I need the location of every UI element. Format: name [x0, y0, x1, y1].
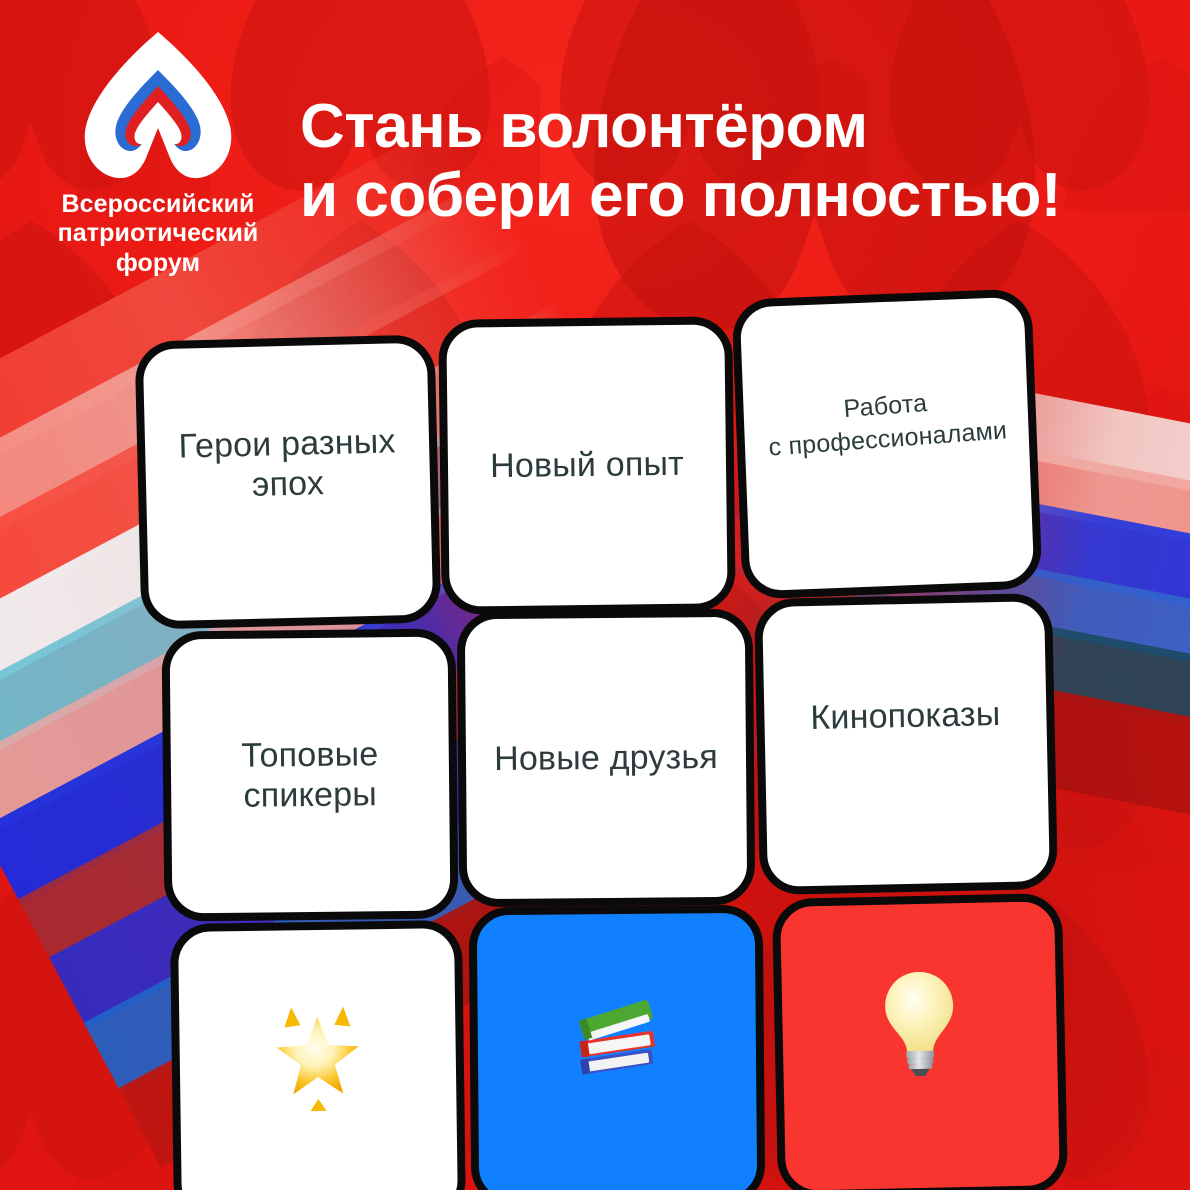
glowing-star-icon	[258, 994, 378, 1114]
card-label: Новые друзья	[480, 737, 732, 779]
card-label: Новый опыт	[476, 444, 698, 487]
card-label: Герои разных эпох	[145, 420, 431, 507]
card-heroes-of-different-eras[interactable]: Герои разных эпох	[135, 334, 442, 629]
books-icon	[562, 980, 671, 1089]
card-label: Работа с профессионалами	[751, 380, 1022, 464]
light-bulb-icon	[868, 965, 970, 1079]
card-new-experience[interactable]: Новый опыт	[438, 316, 736, 615]
card-new-friends[interactable]: Новые друзья	[457, 609, 756, 908]
card-label: Кинопоказы	[796, 694, 1015, 739]
card-work-with-professionals[interactable]: Работа с профессионалами	[731, 288, 1042, 599]
card-label-line-1: Топовые	[241, 734, 379, 776]
card-film-screenings[interactable]: Кинопоказы	[754, 593, 1058, 895]
card-label-line-2: спикеры	[241, 774, 379, 816]
card-books[interactable]	[469, 905, 766, 1190]
card-top-speakers[interactable]: Топовые спикеры	[161, 628, 458, 921]
card-label: Топовые спикеры	[227, 734, 393, 816]
poster: Всероссийский патриотический форум Стань…	[0, 0, 1190, 1190]
card-light-bulb[interactable]	[772, 893, 1068, 1190]
card-glowing-star[interactable]	[170, 920, 466, 1190]
card-grid: Герои разных эпох Новый опыт Работа с пр…	[0, 0, 1190, 1190]
